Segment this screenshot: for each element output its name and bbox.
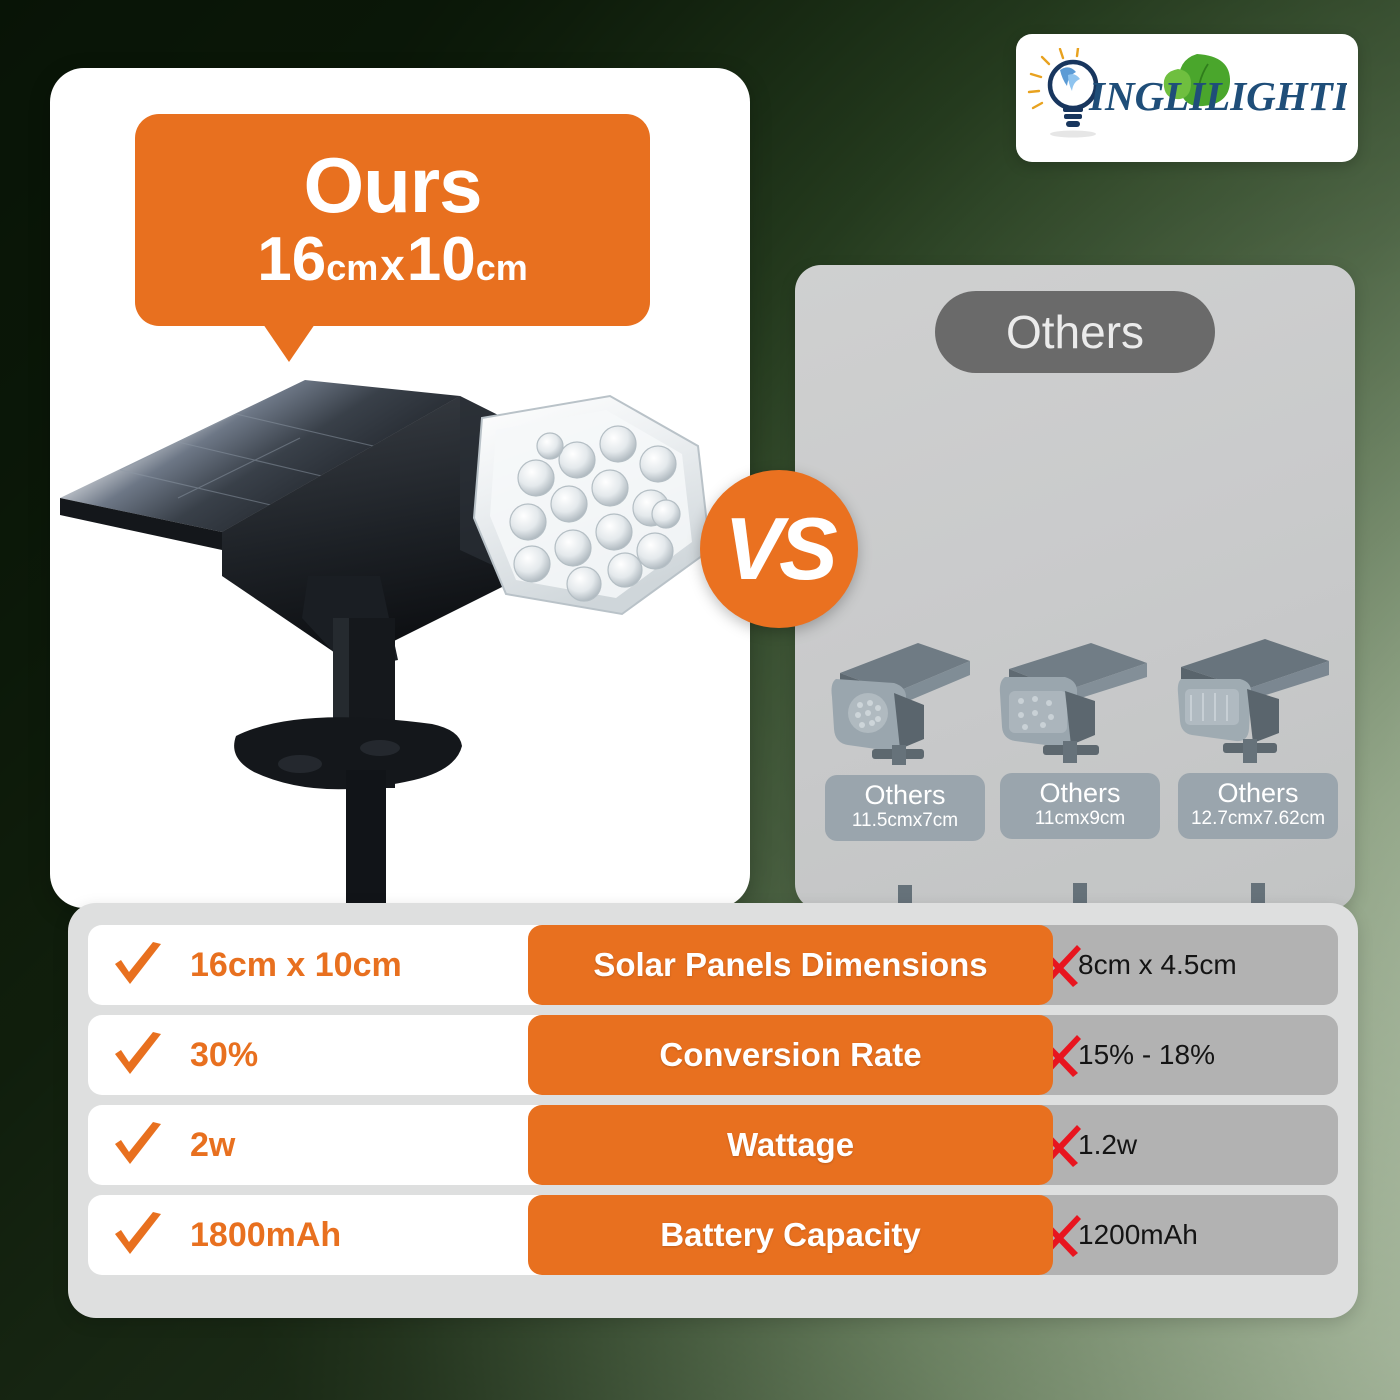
logo-artwork: INGLILIGHTING bbox=[1027, 48, 1347, 148]
ours-cell: 1800mAh bbox=[88, 1195, 588, 1275]
table-row: 1800mAh Battery Capacity 1200mAh bbox=[88, 1195, 1338, 1275]
ours-product-card: Ours 16cmx10cm bbox=[50, 68, 750, 908]
ours-dim-separator: x bbox=[380, 241, 404, 290]
competitor-dimensions: 11.5cmx7cm bbox=[829, 810, 981, 833]
feature-label: Wattage bbox=[727, 1126, 854, 1164]
other-value: 1200mAh bbox=[1078, 1219, 1198, 1251]
table-row: 30% Conversion Rate 15% - 18% bbox=[88, 1015, 1338, 1095]
ours-value: 16cm x 10cm bbox=[190, 946, 402, 985]
ours-cell: 30% bbox=[88, 1015, 588, 1095]
competitor-item: Others 12.7cmx7.62cm bbox=[1173, 633, 1343, 839]
competitor-label: Others 11cmx9cm bbox=[1000, 773, 1160, 839]
competitor-name: Others bbox=[1004, 779, 1156, 807]
feature-cell: Solar Panels Dimensions bbox=[528, 925, 1053, 1005]
feature-label: Solar Panels Dimensions bbox=[593, 946, 987, 984]
others-title-pill: Others bbox=[935, 291, 1215, 373]
other-value: 15% - 18% bbox=[1078, 1039, 1215, 1071]
infographic-root: INGLILIGHTING Ours 16cmx10cm bbox=[0, 0, 1400, 1400]
ours-value: 30% bbox=[190, 1036, 258, 1075]
other-value: 8cm x 4.5cm bbox=[1078, 949, 1237, 981]
ours-value: 2w bbox=[190, 1126, 235, 1165]
competitor-name: Others bbox=[1182, 779, 1334, 807]
competitor-label: Others 12.7cmx7.62cm bbox=[1178, 773, 1338, 839]
competitor-light-icon bbox=[1173, 633, 1343, 773]
competitor-dimensions: 11cmx9cm bbox=[1004, 808, 1156, 831]
check-icon bbox=[112, 1122, 164, 1168]
other-cell: 1.2w bbox=[1028, 1105, 1338, 1185]
vs-label: VS bbox=[724, 505, 833, 593]
ours-cell: 2w bbox=[88, 1105, 588, 1185]
ours-dimensions: 16cmx10cm bbox=[257, 227, 527, 292]
check-icon bbox=[112, 942, 164, 988]
brand-logo-text: INGLILIGHTING bbox=[1088, 73, 1347, 119]
check-icon bbox=[112, 1032, 164, 1078]
competitor-light-icon bbox=[820, 635, 990, 775]
feature-cell: Wattage bbox=[528, 1105, 1053, 1185]
table-row: 2w Wattage 1.2w bbox=[88, 1105, 1338, 1185]
brand-logo: INGLILIGHTING bbox=[1016, 34, 1358, 162]
feature-cell: Battery Capacity bbox=[528, 1195, 1053, 1275]
table-row: 16cm x 10cm Solar Panels Dimensions 8cm … bbox=[88, 925, 1338, 1005]
competitor-dimensions: 12.7cmx7.62cm bbox=[1182, 808, 1334, 831]
competitor-light-icon bbox=[995, 633, 1165, 773]
competitor-item: Others 11cmx9cm bbox=[995, 633, 1165, 839]
competitor-item: Others 11.5cmx7cm bbox=[820, 635, 990, 841]
other-cell: 1200mAh bbox=[1028, 1195, 1338, 1275]
feature-label: Battery Capacity bbox=[660, 1216, 920, 1254]
competitor-name: Others bbox=[829, 781, 981, 809]
ours-size-callout: Ours 16cmx10cm bbox=[135, 114, 650, 326]
competitor-label: Others 11.5cmx7cm bbox=[825, 775, 985, 841]
others-panel: Others bbox=[795, 265, 1355, 910]
feature-label: Conversion Rate bbox=[659, 1036, 921, 1074]
feature-cell: Conversion Rate bbox=[528, 1015, 1053, 1095]
ours-dim-value-2: 10 bbox=[407, 225, 476, 294]
check-icon bbox=[112, 1212, 164, 1258]
comparison-table: 16cm x 10cm Solar Panels Dimensions 8cm … bbox=[68, 903, 1358, 1318]
ours-cell: 16cm x 10cm bbox=[88, 925, 588, 1005]
ours-title: Ours bbox=[303, 148, 481, 222]
ours-dim-unit-2: cm bbox=[476, 247, 528, 288]
ours-dim-value-1: 16 bbox=[257, 225, 326, 294]
others-title: Others bbox=[1006, 305, 1144, 359]
ours-dim-unit-1: cm bbox=[326, 247, 378, 288]
other-value: 1.2w bbox=[1078, 1129, 1137, 1161]
ours-value: 1800mAh bbox=[190, 1216, 341, 1255]
other-cell: 15% - 18% bbox=[1028, 1015, 1338, 1095]
other-cell: 8cm x 4.5cm bbox=[1028, 925, 1338, 1005]
solar-spotlight-icon bbox=[50, 318, 750, 908]
vs-badge: VS bbox=[700, 470, 858, 628]
